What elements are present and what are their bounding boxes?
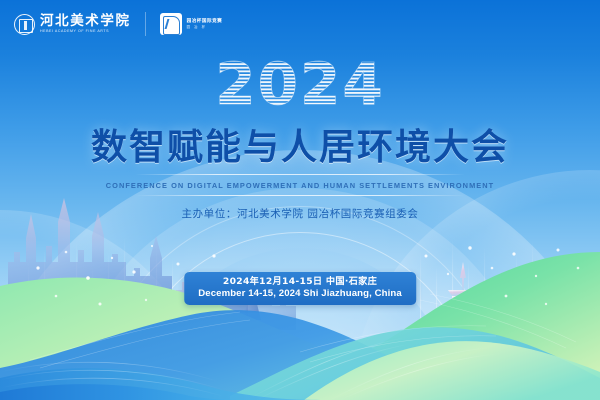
conference-banner: 河北美术学院 HEBEI ACADEMY OF FINE ARTS 园冶杯国际竞… — [0, 0, 600, 400]
year-2024-graphic: 2024 — [214, 56, 386, 112]
academy-name-cn: 河北美术学院 — [40, 14, 131, 28]
header-logos: 河北美术学院 HEBEI ACADEMY OF FINE ARTS 园冶杯国际竞… — [14, 12, 222, 36]
page-title: 数智赋能与人居环境大会 — [0, 126, 600, 170]
competition-name-cn: 园冶杯国际竞赛 — [187, 18, 223, 24]
date-line-en: December 14-15, 2024 Shi Jiazhuang, Chin… — [198, 288, 402, 300]
academy-logo[interactable]: 河北美术学院 HEBEI ACADEMY OF FINE ARTS — [14, 14, 131, 35]
organizer-line: 主办单位：河北美术学院 园冶杯国际竞赛组委会 — [0, 207, 600, 222]
date-location-badge: 2024年12月14-15日 中国·石家庄 December 14-15, 20… — [184, 272, 416, 305]
title-block: 数智赋能与人居环境大会 CONFERENCE ON DIGITAL EMPOWE… — [0, 126, 600, 196]
academy-name-en: HEBEI ACADEMY OF FINE ARTS — [40, 29, 131, 34]
title-divider — [135, 174, 465, 175]
competition-logo[interactable]: 园冶杯国际竞赛 园 冶 杯 — [160, 13, 223, 35]
seal-emblem-icon — [14, 14, 35, 35]
yuanye-cup-mark-icon — [160, 13, 182, 35]
competition-name-sub: 园 冶 杯 — [187, 25, 223, 29]
subtitle-divider — [135, 195, 465, 196]
year-display: 2024 — [0, 56, 600, 112]
date-line-cn: 2024年12月14-15日 中国·石家庄 — [198, 276, 402, 288]
year-text: 2024 — [215, 56, 384, 112]
logo-divider — [145, 12, 146, 36]
page-subtitle: CONFERENCE ON DIGITAL EMPOWERMENT AND HU… — [0, 180, 600, 191]
